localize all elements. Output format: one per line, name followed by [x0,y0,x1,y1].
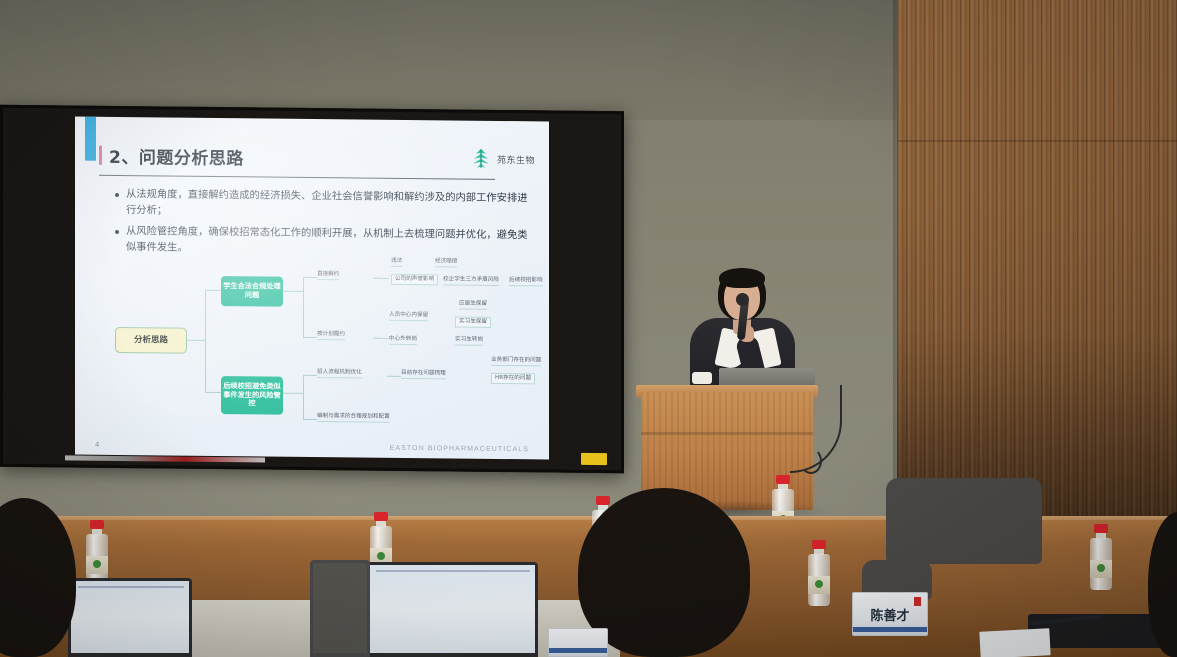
bottle-neck [376,520,386,527]
bottle-label-mark [815,580,823,588]
mindmap-leaf: HR存在的问题 [491,373,535,384]
mm-connector [283,291,303,292]
name-plate-text: 陈善才 [870,605,909,624]
laptop-back-panel [313,563,367,653]
mindmap-root-label: 分析思路 [134,335,168,346]
mm-connector [303,375,304,419]
mindmap-sub-label: 招人流程机制优化 [317,369,362,378]
laptop-screen[interactable] [71,581,189,653]
mindmap-root-node: 分析思路 [115,327,187,354]
speaker-hair-fringe [719,268,765,288]
mindmap-leaf: 目前存在问题梳理 [401,370,446,379]
slide-footer-brand: EASTON BIOPHARMACEUTICALS [390,445,529,453]
bottle-label-mark [377,552,385,560]
slide-page-number: 4 [95,441,99,449]
conference-room-scene: 2、问题分析思路 苑东生物 [0,0,1177,657]
mindmap-leaf: 经济赔偿 [435,258,457,267]
bottle-label-mark [1097,564,1105,572]
mindmap-leaf: 应届生保留 [459,301,487,310]
office-chair [886,478,1042,564]
mindmap-branch-node-1: 学生合法合规处理问题 [221,276,283,307]
mm-connector [205,392,221,393]
name-plate-bar [549,648,607,653]
bullet-text: 从风险管控角度，确保校招常态化工作的顺利开展，从机制上去梳理问题并优化，避免类似… [126,224,533,260]
name-plate-secondary [548,628,608,657]
microphone-head-icon [736,293,749,306]
mindmap-leaf: 校企学生三方矛盾风险 [443,276,499,285]
bottle-neck [778,483,788,490]
bottle-cap [596,496,610,505]
slide-bullet-list: 从法规角度，直接解约造成的经济损失、企业社会信誉影响和解约涉及的内部工作安排进行… [115,187,533,265]
company-logo: 苑东生物 [469,147,535,172]
bottle-label-mark [93,560,101,568]
paper-sheet [979,628,1050,657]
mm-connector [303,277,317,278]
mm-connector [205,290,206,392]
projection-screen: 2、问题分析思路 苑东生物 [0,105,624,474]
slide-title: 2、问题分析思路 [109,142,244,168]
speaker-sleeve-cuff [692,372,712,384]
mindmap-leaf: 中心外转岗 [389,336,417,345]
mm-connector [373,338,389,339]
screen-sticker [581,453,607,465]
list-item: 从风险管控角度，确保校招常态化工作的顺利开展，从机制上去梳理问题并优化，避免类似… [115,224,533,260]
mm-connector [187,340,205,341]
bottle-cap [776,475,790,484]
bottle-neck [1096,532,1106,539]
slide-title-row: 2、问题分析思路 苑东生物 [99,137,535,178]
bullet-text: 从法规角度，直接解约造成的经济损失、企业社会信誉影响和解约涉及的内部工作安排进行… [126,187,533,223]
title-tick-mark [99,145,102,164]
mindmap-branch-node-2: 后续校招避免类似事件发生的风险管控 [221,376,283,415]
mindmap-leaf: 公司的声誉影响 [391,274,438,285]
slide-title-group: 2、问题分析思路 [99,142,244,169]
bottle-cap [90,520,104,529]
name-plate: 陈善才 [852,592,928,636]
mm-connector [303,337,317,338]
mindmap-leaf: 实习生保留 [455,316,491,327]
mindmap-diagram: 分析思路 学生合法合规处理问题 后续校招避免类似事件发生的风险管控 直接解约 违… [87,267,549,427]
mindmap-leaf: 业务部门存在的问题 [491,357,541,366]
bullet-dot-icon [115,193,119,197]
screen-edge-strip [65,455,265,462]
slide-footer: 4 EASTON BIOPHARMACEUTICALS [75,435,549,454]
laptop-lid [366,562,538,657]
mindmap-branch-label: 后续校招避免类似事件发生的风险管控 [223,382,281,409]
mm-connector [303,375,317,376]
list-item: 从法规角度，直接解约造成的经济损失、企业社会信誉影响和解约涉及的内部工作安排进行… [115,187,533,223]
company-logo-text: 苑东生物 [497,152,535,165]
mindmap-sub-label: 编制与需求的合理规划和配置 [317,413,390,423]
mm-connector [303,277,304,337]
slide-accent-bar [85,117,96,161]
laptop-lid-back [310,560,370,657]
mm-connector [303,419,317,420]
mindmap-branch-label: 学生合法合规处理问题 [223,282,281,300]
back-wall-upper [0,0,905,120]
laptop-lid [68,578,192,657]
mindmap-sub-label: 直接解约 [317,271,339,280]
bottle-cap [812,540,826,549]
bottle-cap [1094,524,1108,533]
bottle-neck [92,528,102,535]
mm-connector [283,393,303,394]
name-plate-bar [853,627,927,632]
wood-wall-seam [897,140,1177,142]
bottle-cap [374,512,388,521]
mm-connector [205,290,221,291]
mindmap-leaf: 后续校招影响 [509,277,543,286]
leaf-logo-icon [469,147,493,171]
mindmap-sub-label: 按计划履约 [317,331,345,340]
mm-connector [373,278,389,279]
mm-connector [387,376,401,377]
podium-trim-line [641,432,813,435]
name-plate-logo-icon [914,597,921,606]
laptop-screen-content [376,570,530,649]
mindmap-leaf: 人员中心内保留 [389,312,428,321]
mindmap-leaf: 实习生转岗 [455,336,483,345]
microphone-cable-loop [800,448,822,474]
presentation-slide: 2、问题分析思路 苑东生物 [75,117,549,460]
laptop-screen-content [78,586,184,649]
laptop-screen[interactable] [369,565,535,653]
mindmap-leaf: 违法 [391,258,402,267]
bullet-dot-icon [115,230,119,234]
bottle-neck [814,548,824,555]
